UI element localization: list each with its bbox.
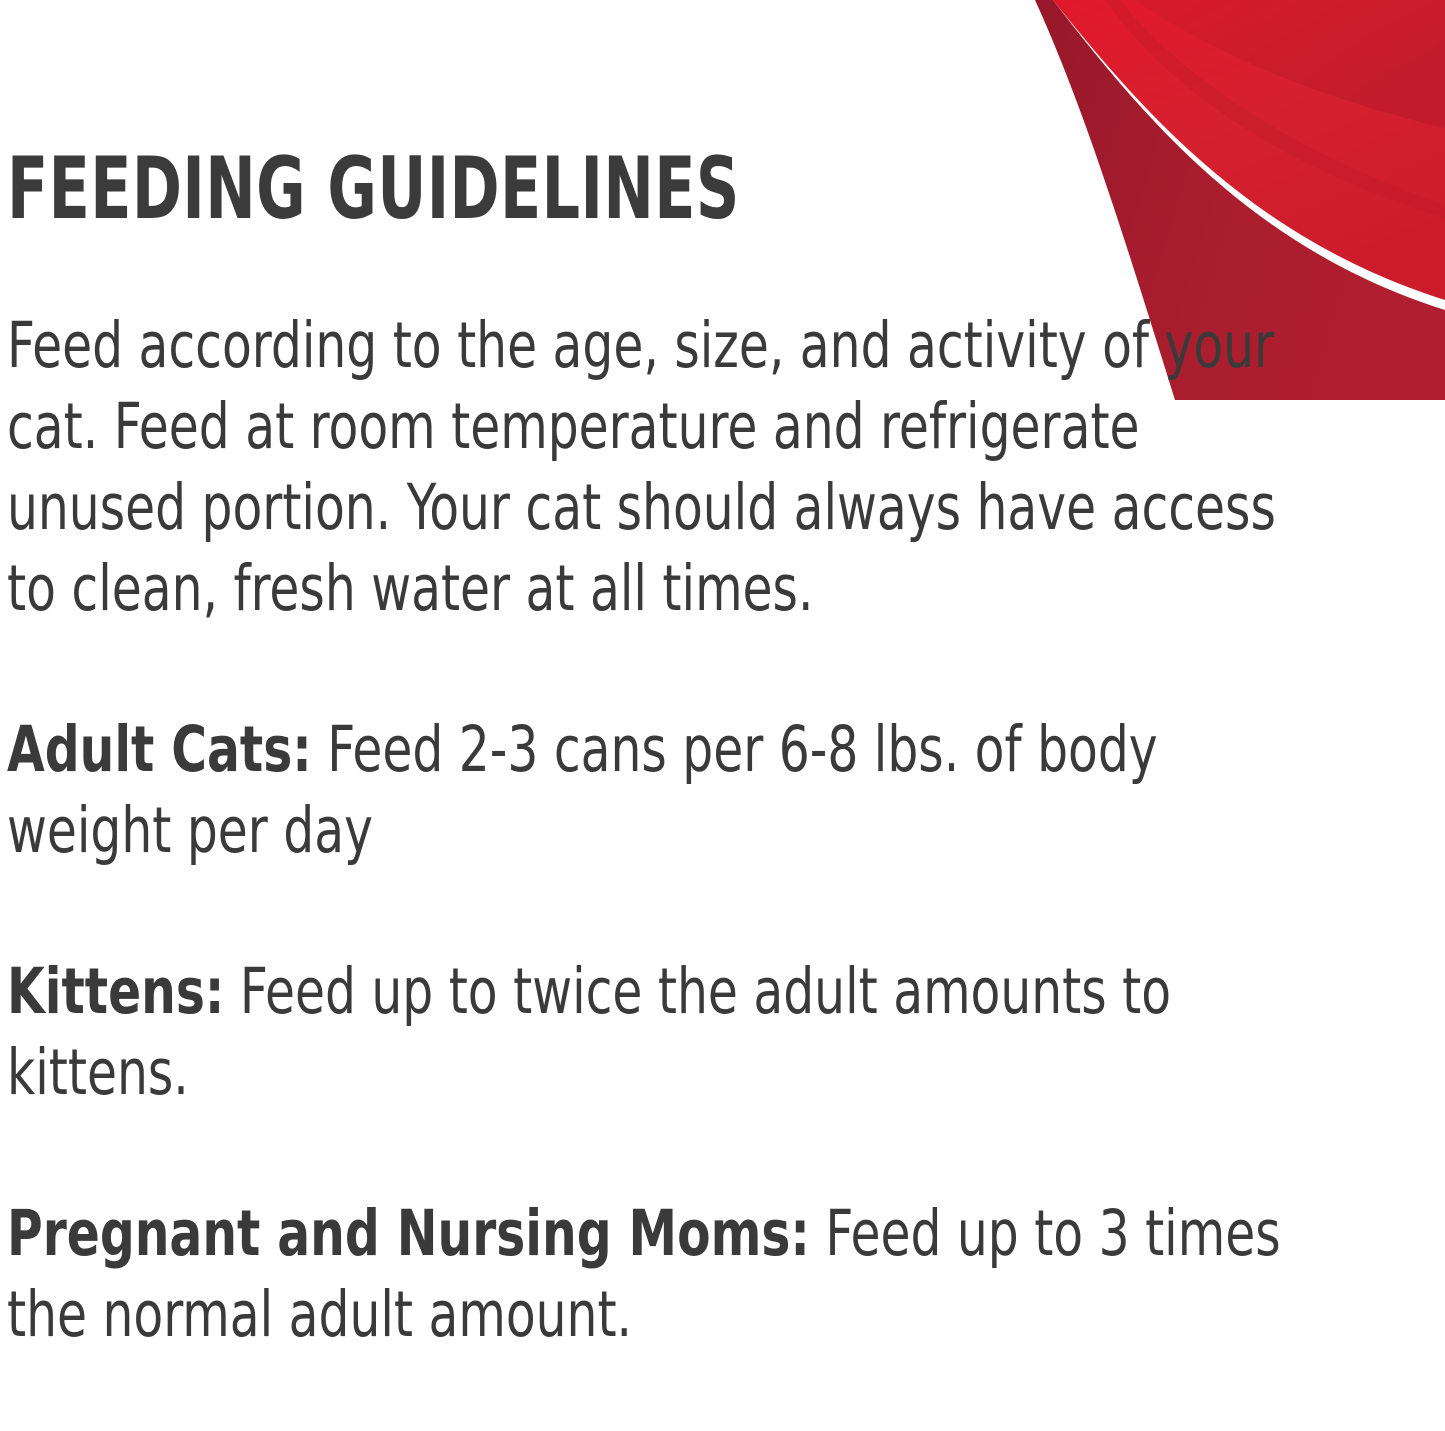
intro-paragraph: Feed according to the age, size, and act… — [7, 231, 1306, 629]
feeding-guidelines-page: FEEDING GUIDELINES Feed according to the… — [0, 0, 1445, 1431]
guideline-label-kittens: Kittens: — [7, 955, 224, 1028]
guideline-label-pregnant-nursing-moms: Pregnant and Nursing Moms: — [7, 1197, 810, 1270]
guideline-kittens: Kittens: Feed up to twice the adult amou… — [7, 871, 1306, 1113]
page-title: FEEDING GUIDELINES — [7, 0, 1021, 231]
content-column: FEEDING GUIDELINES Feed according to the… — [7, 0, 1307, 1355]
guideline-adult-cats: Adult Cats: Feed 2-3 cans per 6-8 lbs. o… — [7, 629, 1306, 871]
guideline-label-adult-cats: Adult Cats: — [7, 713, 312, 786]
guideline-pregnant-nursing-moms: Pregnant and Nursing Moms: Feed up to 3 … — [7, 1113, 1306, 1355]
